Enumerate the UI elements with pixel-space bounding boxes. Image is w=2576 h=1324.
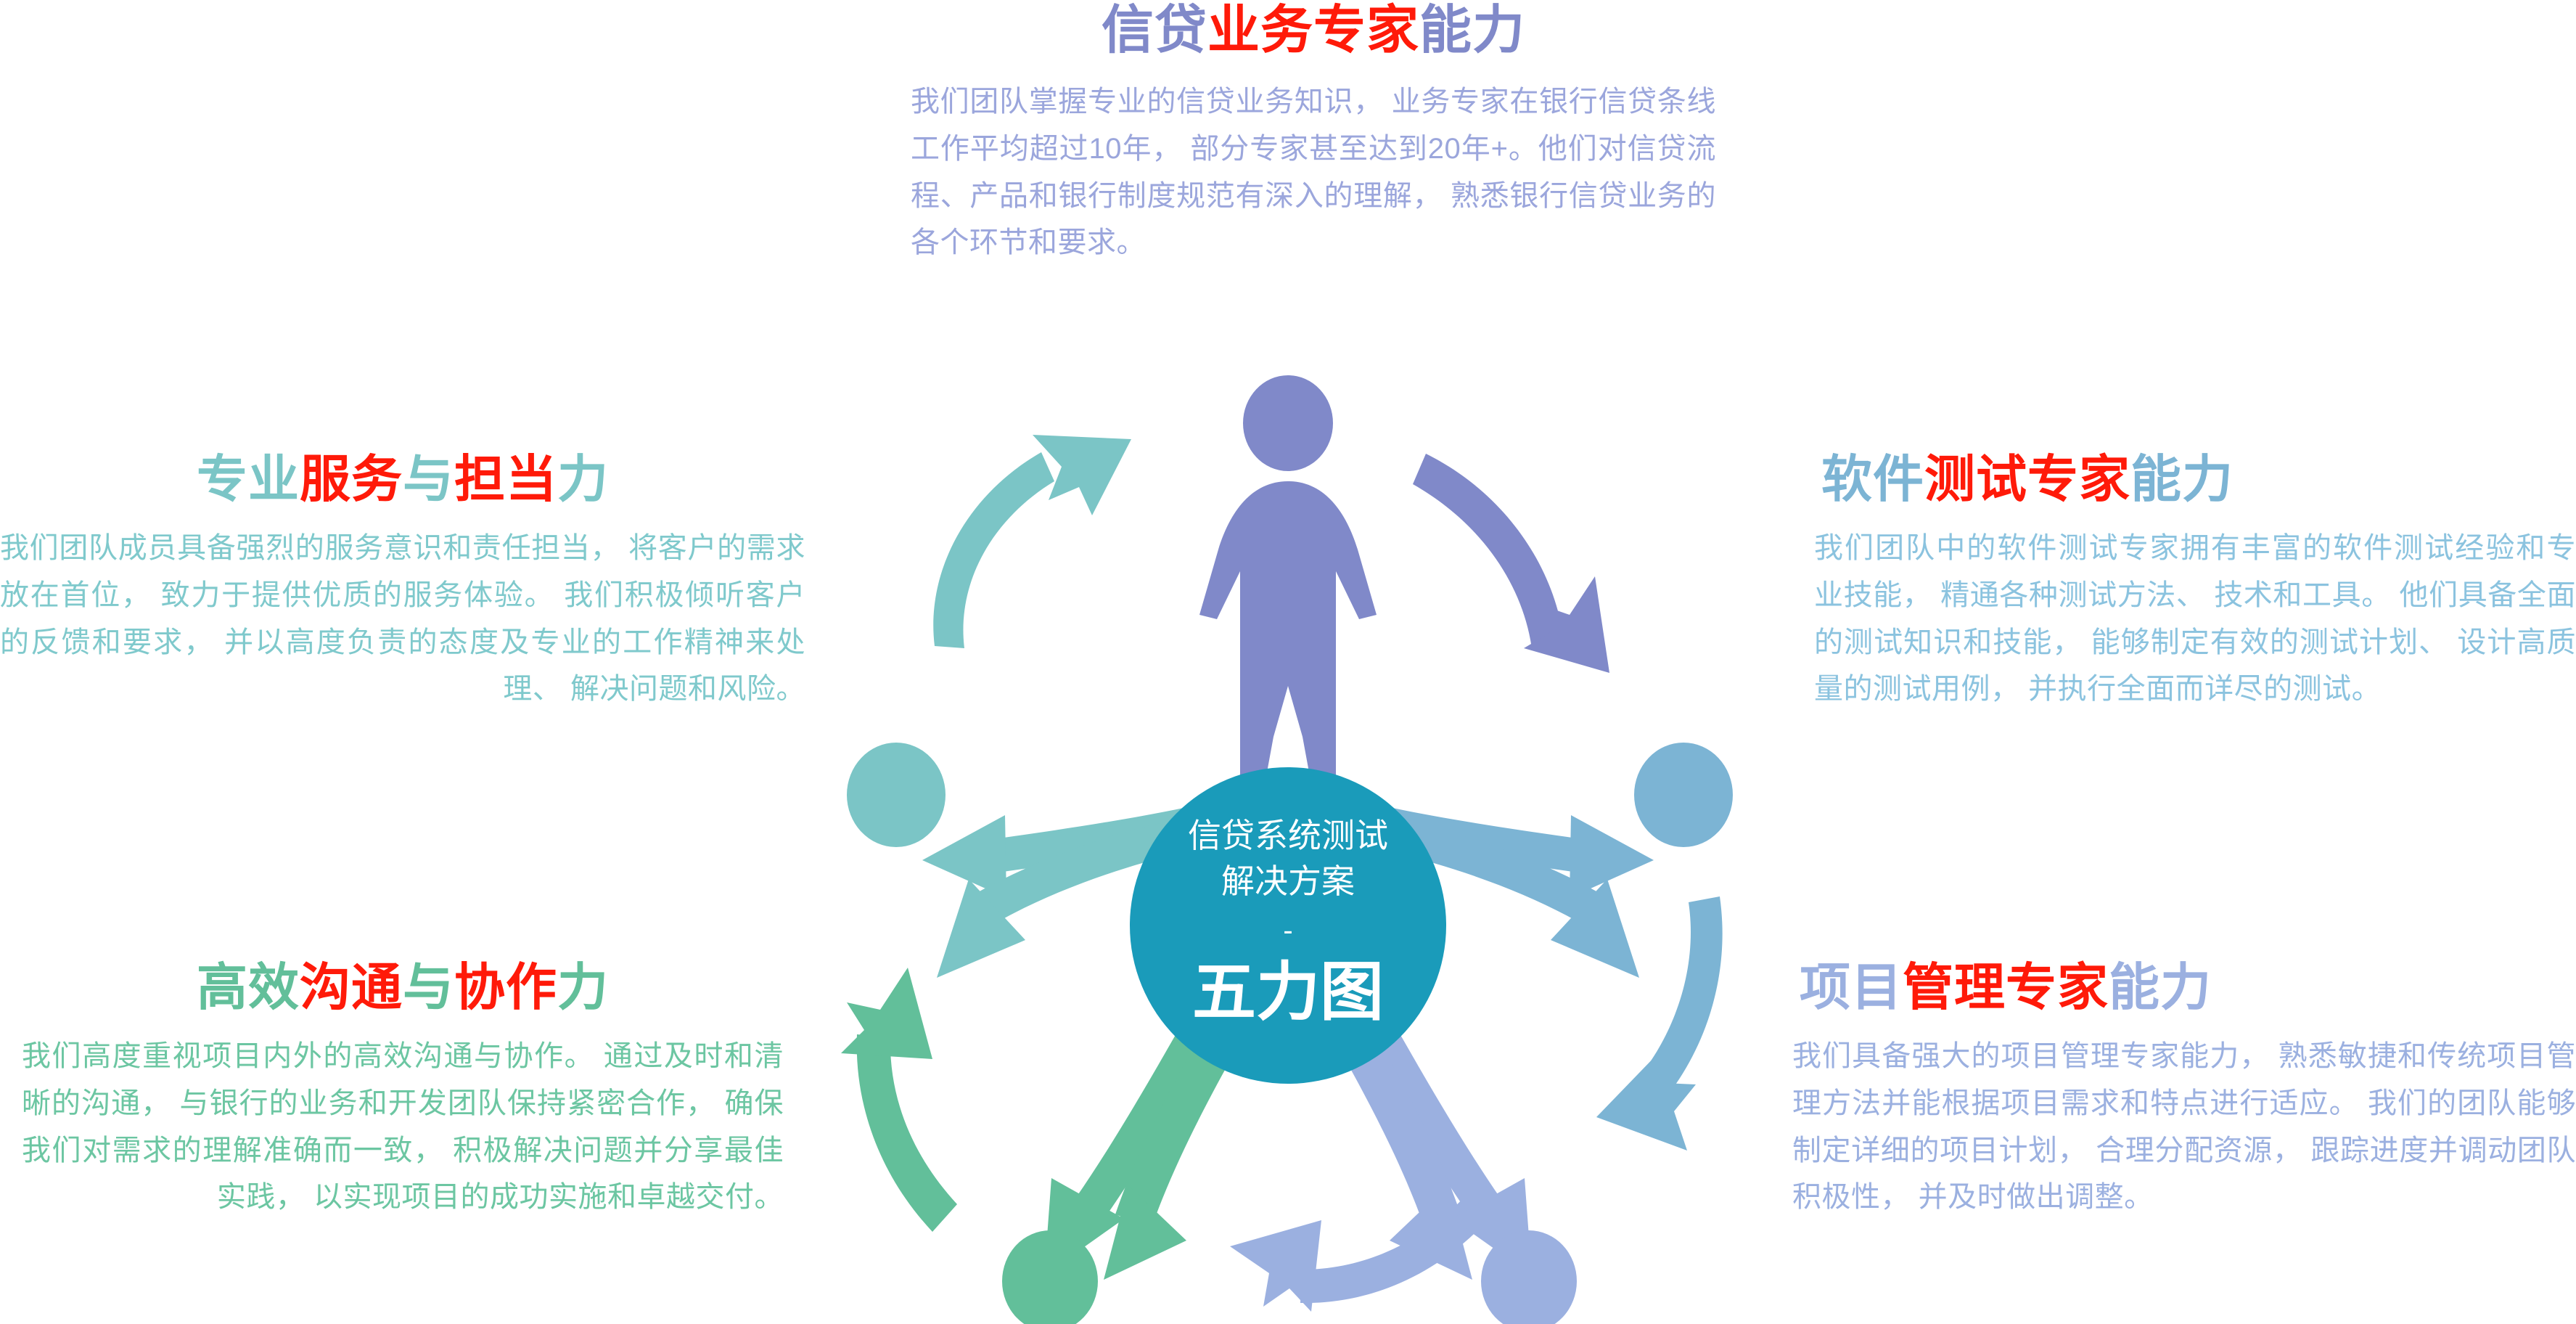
section-body-left-bottom: 我们高度重视项目内外的高效沟通与协作。 通过及时和清晰的沟通， 与银行的业务和开… [0, 1033, 805, 1221]
title-part-4: 力 [557, 959, 609, 1016]
section-body-left-top: 我们团队成员具备强烈的服务意识和责任担当， 将客户的需求放在首位， 致力于提供优… [0, 525, 805, 713]
title-part-1: 沟通 [300, 959, 403, 1016]
node-left-icon [847, 743, 946, 847]
arrow-bottom-left-to-left-icon [841, 968, 957, 1232]
center-line1: 信贷系统测试 [1188, 817, 1388, 854]
section-body-top: 我们团队掌握专业的信贷业务知识， 业务专家在银行信贷条线工作平均超过10年， 部… [911, 78, 1716, 266]
section-body-right-top: 我们团队中的软件测试专家拥有丰富的软件测试经验和专业技能， 精通各种测试方法、 … [1792, 525, 2576, 713]
center-line3: 五力图 [1192, 956, 1384, 1028]
center-line2: 解决方案 [1221, 862, 1355, 900]
title-part-2: 能力 [2109, 959, 2212, 1016]
center-divider: - [1283, 915, 1292, 947]
section-professional-service: 专业服务与担当力 我们团队成员具备强烈的服务意识和责任担当， 将客户的需求放在首… [0, 454, 805, 713]
title-part-0: 高效 [197, 959, 300, 1016]
title-part-4: 力 [557, 451, 609, 507]
title-part-0: 专业 [197, 451, 300, 507]
section-efficient-communication: 高效沟通与协作力 我们高度重视项目内外的高效沟通与协作。 通过及时和清晰的沟通，… [0, 962, 805, 1221]
title-part-2: 与 [403, 451, 454, 507]
section-title-top: 信贷业务专家能力 [911, 4, 1716, 57]
section-title-left-top: 专业服务与担当力 [0, 454, 805, 504]
section-body-right-bottom: 我们具备强大的项目管理专家能力， 熟悉敏捷和传统项目管理方法并能根据项目需求和特… [1778, 1033, 2576, 1221]
title-part-0: 信贷 [1102, 1, 1207, 60]
section-project-management-expert: 项目管理专家能力 我们具备强大的项目管理专家能力， 熟悉敏捷和传统项目管理方法并… [1778, 962, 2576, 1221]
section-credit-business-expert: 信贷业务专家能力 我们团队掌握专业的信贷业务知识， 业务专家在银行信贷条线工作平… [911, 4, 1716, 266]
arrow-left-to-top-icon [933, 435, 1131, 648]
title-part-0: 软件 [1821, 451, 1924, 507]
section-title-left-bottom: 高效沟通与协作力 [0, 962, 805, 1013]
title-part-3: 担当 [454, 451, 557, 507]
title-part-1: 管理专家 [1903, 959, 2109, 1016]
title-part-1: 业务专家 [1207, 1, 1419, 60]
section-software-testing-expert: 软件测试专家能力 我们团队中的软件测试专家拥有丰富的软件测试经验和专业技能， 精… [1792, 454, 2576, 713]
title-part-2: 能力 [1419, 1, 1525, 60]
title-part-1: 服务 [300, 451, 403, 507]
title-part-3: 协作 [454, 959, 557, 1016]
arrow-top-to-right-icon [1413, 454, 1609, 673]
title-part-2: 与 [403, 959, 454, 1016]
five-forces-diagram: 信贷系统测试 解决方案 - 五力图 [751, 359, 1825, 1324]
title-part-1: 测试专家 [1924, 451, 2130, 507]
title-part-2: 能力 [2130, 451, 2234, 507]
section-title-right-bottom: 项目管理专家能力 [1778, 962, 2576, 1013]
node-right-icon [1634, 743, 1733, 847]
section-title-right-top: 软件测试专家能力 [1792, 454, 2576, 504]
